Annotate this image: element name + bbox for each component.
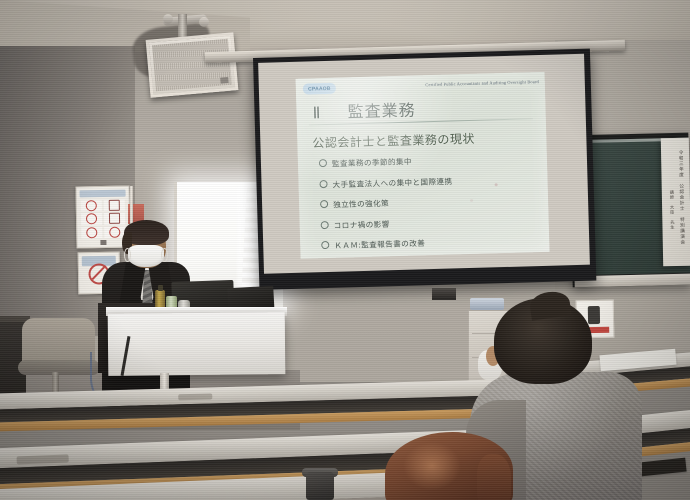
bullet-circle-icon [320, 200, 328, 208]
slide-bullet-item: 独立性の強化策 [320, 194, 540, 209]
slide-bullet-item: コロナ禍の影響 [321, 215, 541, 230]
travel-cup [306, 472, 334, 500]
bullet-text: 大手監査法人への集中と国際連携 [332, 177, 452, 189]
slide-subtitle: 公認会計士と監査業務の現状 [312, 130, 475, 152]
mask-icon [104, 200, 125, 212]
poster-header-band [80, 190, 126, 198]
desk-mark [178, 393, 212, 400]
chair-seat [18, 360, 100, 375]
bullet-text: 独立性の強化策 [333, 199, 389, 210]
slide-bullet-item: 監査業務の季節的集中 [319, 153, 539, 168]
presentation-slide: CPAAOB Certified Public Accountants and … [296, 72, 550, 259]
projection-screen: CPAAOB Certified Public Accountants and … [253, 49, 596, 290]
slide-bullet-list: 監査業務の季節的集中 大手監査法人への集中と国際連携 独立性の強化策 コロナ禍の… [319, 153, 542, 259]
bullet-text: ＫＡＭ:監査報告書の改善 [334, 239, 425, 251]
slide-section-number: Ⅱ [312, 103, 321, 122]
vertical-poster-line-2: 講師 大臣 先生 [669, 190, 676, 230]
cpaaob-logo: CPAAOB [303, 83, 336, 95]
wall-poster-vertical: 令和三年度 公認会計士 特別講演会 講師 大臣 先生 [661, 138, 690, 267]
screenshot-root: 令和三年度 公認会計士 特別講演会 講師 大臣 先生 CPAAOB Certif… [0, 0, 690, 500]
slide-bullet-item: 大手監査法人への集中と国際連携 [319, 174, 539, 189]
bullet-text: 監査業務の季節的集中 [332, 157, 412, 168]
slide-title: Ⅱ 監査業務 [312, 96, 416, 123]
speaker-logo [220, 77, 228, 84]
projector-bracket [432, 288, 456, 300]
handwash-icon [81, 200, 102, 212]
vertical-poster-line-1: 令和三年度 公認会計士 特別講演会 [676, 150, 687, 245]
face-mask-icon [128, 245, 164, 267]
speaker-knob-right [199, 17, 209, 27]
slide-bullet-item: ＫＡＭ:監査報告書の改善 [321, 235, 541, 250]
bullet-circle-icon [319, 180, 327, 188]
bullet-circle-icon [321, 241, 329, 249]
hair-highlight [403, 442, 461, 490]
audience-member-woman [385, 432, 525, 500]
ceiling-speaker-icon [146, 32, 239, 97]
bullet-circle-icon [321, 221, 329, 229]
laser-speck-2 [470, 199, 473, 202]
slide-english-header: Certified Public Accountants and Auditin… [425, 79, 539, 87]
bullet-text: コロナ禍の影響 [334, 220, 390, 231]
hair-strand [477, 454, 511, 500]
bullet-circle-icon [319, 159, 327, 167]
speaker-knob-left [163, 14, 173, 24]
slide-title-text: 監査業務 [347, 100, 416, 121]
cpaaob-logo-text: CPAAOB [308, 85, 331, 92]
laser-speck [495, 183, 498, 186]
